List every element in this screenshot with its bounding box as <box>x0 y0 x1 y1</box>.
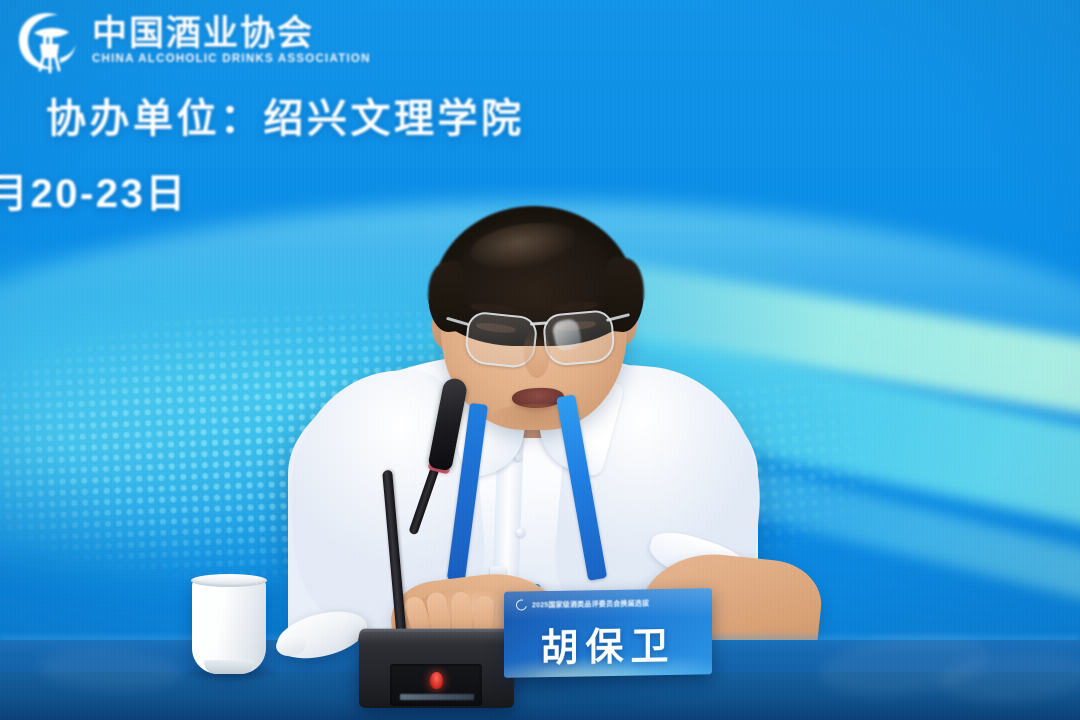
glasses-temple-right <box>606 313 630 322</box>
microphone-gooseneck <box>382 469 408 652</box>
nameplate-event-label: 2025国家级酒类品评委员会换届选拔 <box>532 598 649 610</box>
microphone-gooseneck-upper <box>408 466 439 535</box>
glasses-temple-left <box>446 317 470 326</box>
microphone-windscreen <box>427 377 468 472</box>
nameplate-wave-graphic <box>504 650 712 678</box>
nameplate: 2025国家级酒类品评委员会换届选拔 胡保卫 <box>504 588 712 678</box>
microphone-active-led-icon <box>430 672 443 689</box>
microphone-brand-label <box>400 694 474 700</box>
conference-photo-scene: 中国酒业协会 CHINA ALCOHOLIC DRINKS ASSOCIATIO… <box>0 0 1080 720</box>
nameplate-emblem-icon <box>514 598 529 613</box>
conference-microphone <box>360 378 510 678</box>
nose <box>524 330 550 378</box>
tea-cup-rim <box>191 574 267 587</box>
tea-cup-foot <box>204 660 254 674</box>
shirt-button <box>516 528 525 537</box>
